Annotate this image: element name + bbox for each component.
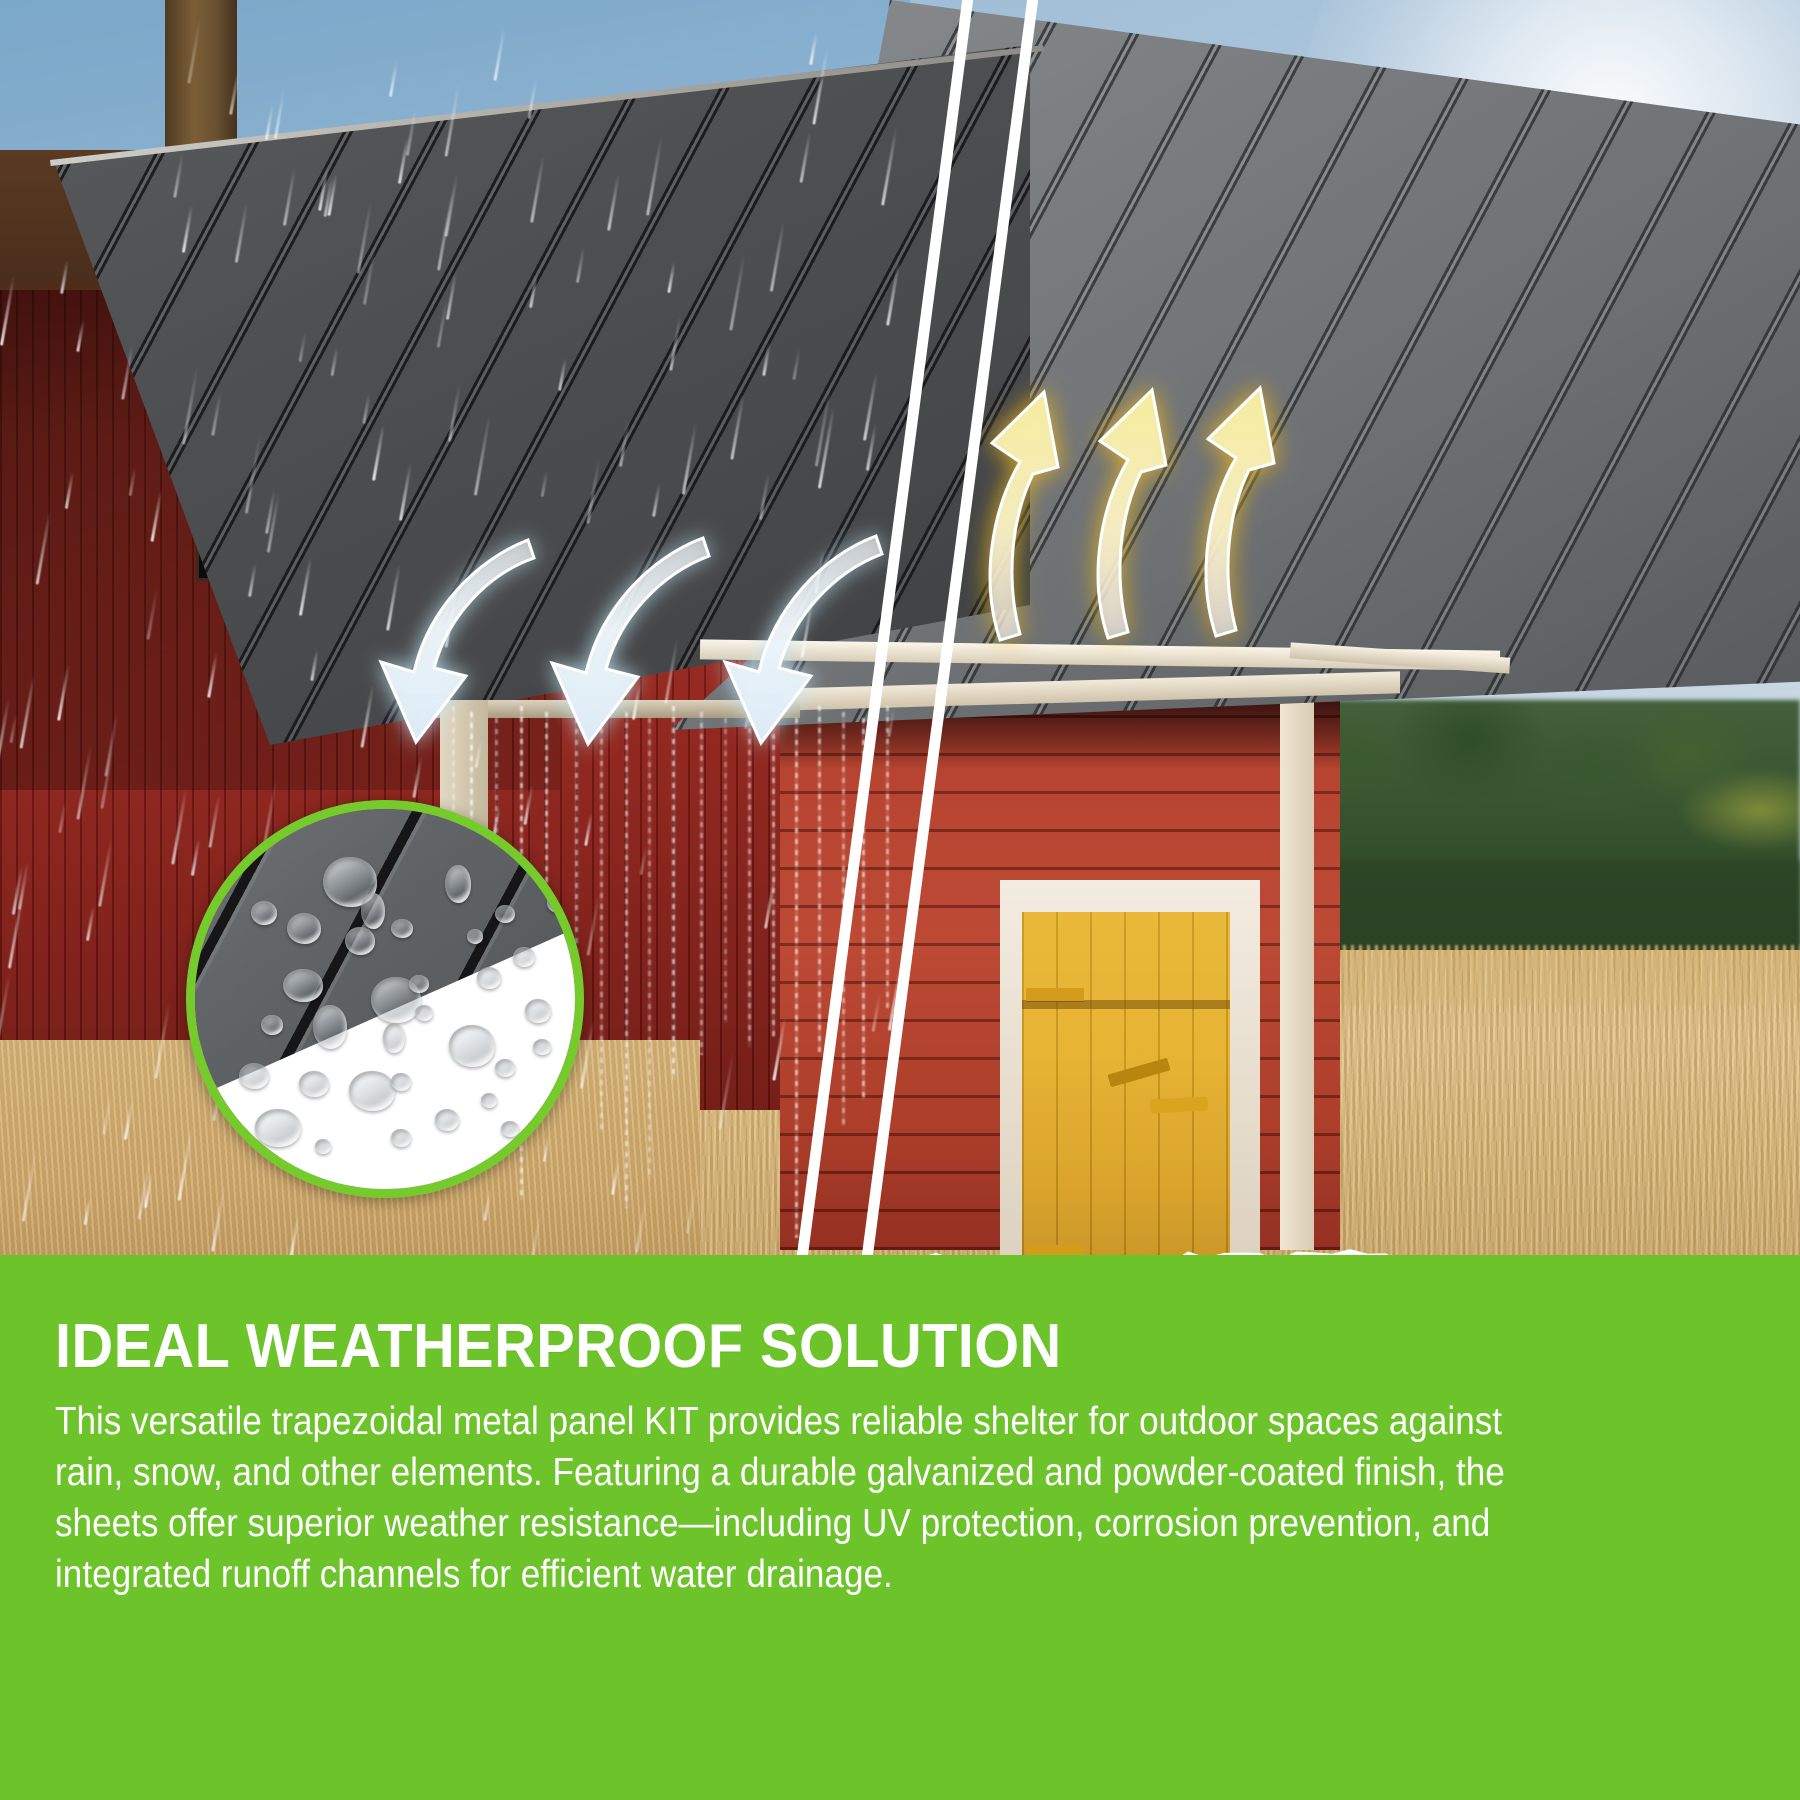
water-droplet [409, 975, 429, 993]
water-droplet [513, 947, 535, 967]
water-stream [886, 706, 889, 1008]
scene-photo [0, 0, 1800, 1290]
water-droplet [495, 905, 515, 923]
water-droplet [261, 1015, 283, 1035]
water-droplet [361, 893, 385, 929]
barn-corner-trim [1280, 700, 1314, 1250]
water-beading-detail-inset [186, 800, 584, 1198]
water-droplet [481, 1093, 497, 1108]
water-droplet [349, 1071, 395, 1111]
water-stream [772, 712, 775, 1037]
water-stream [748, 706, 751, 1047]
barn-door-hinge [1026, 988, 1084, 1001]
water-droplet [391, 1073, 411, 1091]
water-droplet [255, 1109, 301, 1147]
water-droplet [525, 999, 551, 1023]
water-droplet [345, 927, 375, 955]
water-droplet [313, 1005, 347, 1049]
water-droplet [467, 929, 483, 944]
water-droplet [239, 1063, 269, 1089]
water-stream [700, 712, 703, 1055]
water-stream [818, 706, 821, 1052]
water-droplet [477, 967, 501, 989]
page-title: IDEAL WEATHERPROOF SOLUTION [55, 1315, 1627, 1379]
barn-door [1022, 912, 1230, 1260]
description-text: This versatile trapezoidal metal panel K… [55, 1397, 1576, 1600]
water-droplet [445, 865, 471, 903]
water-stream [795, 718, 798, 1238]
water-droplet [299, 1071, 329, 1097]
banner-content: IDEAL WEATHERPROOF SOLUTION This versati… [0, 1315, 1800, 1600]
water-droplet [315, 1139, 331, 1154]
water-droplet [241, 1139, 263, 1159]
water-droplet [283, 969, 323, 1002]
water-stream [625, 712, 628, 1208]
barn-door-rail [1022, 1000, 1230, 1009]
water-droplet [547, 893, 569, 913]
description-paragraph: This versatile trapezoidal metal panel K… [55, 1397, 1576, 1600]
water-droplet [533, 1039, 551, 1055]
water-droplet [391, 919, 413, 938]
water-droplet [435, 1109, 459, 1131]
water-droplet [495, 1059, 515, 1077]
product-infographic: IDEAL WEATHERPROOF SOLUTION This versati… [0, 0, 1800, 1800]
water-droplet [449, 1025, 495, 1067]
water-droplet [287, 913, 321, 944]
water-stream [648, 718, 651, 1180]
water-droplet [415, 1005, 433, 1021]
water-stream [724, 718, 727, 1023]
water-droplet [391, 1129, 411, 1147]
water-droplet [251, 901, 277, 925]
water-droplet [501, 1121, 519, 1137]
water-stream [672, 706, 675, 1080]
water-stream [600, 706, 603, 1132]
water-droplet [383, 1023, 405, 1053]
